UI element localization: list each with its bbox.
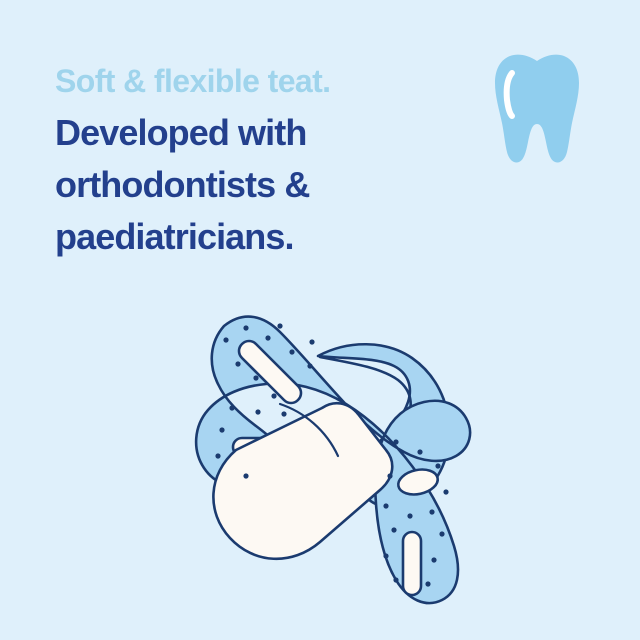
promo-card: Soft & flexible teat. Developed with ort… — [0, 0, 640, 640]
headline-line-3: paediatricians. — [55, 211, 485, 263]
vent-slot-lower — [403, 532, 421, 595]
headline-line-2: orthodontists & — [55, 159, 485, 211]
eyebrow-text: Soft & flexible teat. — [55, 55, 485, 107]
headline-line-1: Developed with — [55, 107, 485, 159]
pacifier-illustration — [180, 280, 480, 610]
headline-block: Soft & flexible teat. Developed with ort… — [55, 55, 485, 263]
tooth-icon — [492, 52, 582, 167]
